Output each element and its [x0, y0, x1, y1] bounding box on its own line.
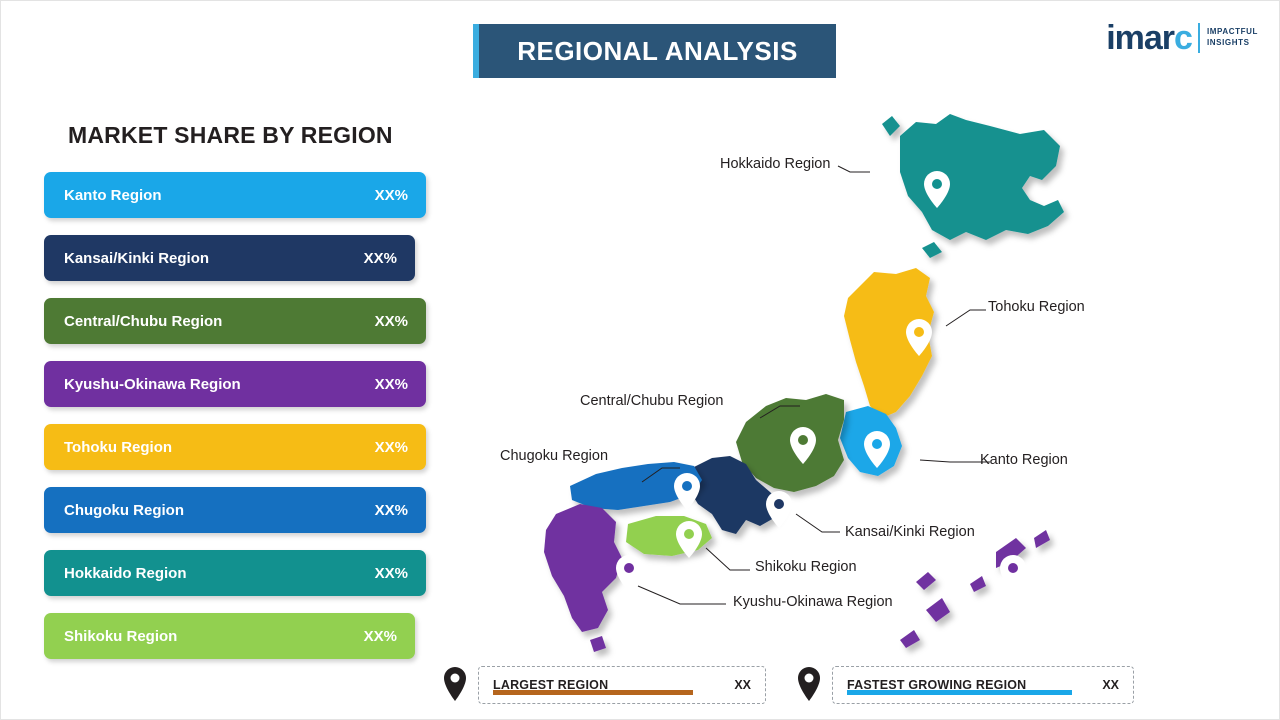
region-share-pill[interactable]: Kansai/Kinki RegionXX% — [44, 235, 415, 281]
region-share-label: Chugoku Region — [64, 502, 184, 519]
region-share-label: Hokkaido Region — [64, 565, 187, 582]
region-share-value: XX% — [375, 187, 408, 204]
map-label-chugoku: Chugoku Region — [500, 448, 608, 464]
region-share-row: Tohoku RegionXX% — [44, 424, 436, 470]
map-label-tohoku: Tohoku Region — [988, 299, 1085, 315]
map-region-hokkaido[interactable] — [882, 114, 1064, 258]
page-title-banner: REGIONAL ANALYSIS — [473, 24, 836, 78]
region-share-value: XX% — [375, 439, 408, 456]
largest-region-value: XX — [734, 678, 751, 692]
fastest-region-label: FASTEST GROWING REGION — [833, 678, 1026, 692]
region-share-value: XX% — [375, 313, 408, 330]
fastest-region-pin-icon — [795, 665, 823, 703]
region-share-pill[interactable]: Shikoku RegionXX% — [44, 613, 415, 659]
region-share-label: Kyushu-Okinawa Region — [64, 376, 241, 393]
region-share-legend: Kanto RegionXX%Kansai/Kinki RegionXX%Cen… — [44, 172, 436, 676]
region-share-pill[interactable]: Hokkaido RegionXX% — [44, 550, 426, 596]
region-share-value: XX% — [375, 502, 408, 519]
largest-region-pin-icon — [441, 665, 469, 703]
logo-tagline-line2: INSIGHTS — [1207, 38, 1258, 49]
japan-map: Hokkaido Region Tohoku Region Central/Ch… — [430, 100, 1270, 660]
imarc-logo: imarc IMPACTFUL INSIGHTS — [1106, 18, 1258, 58]
region-share-value: XX% — [375, 565, 408, 582]
logo-tagline: IMPACTFUL INSIGHTS — [1207, 27, 1258, 49]
region-share-pill[interactable]: Kanto RegionXX% — [44, 172, 426, 218]
largest-region-badge[interactable]: LARGEST REGION XX — [478, 666, 766, 704]
logo-wordmark: imarc — [1106, 21, 1192, 55]
region-share-label: Central/Chubu Region — [64, 313, 222, 330]
page-title: REGIONAL ANALYSIS — [517, 36, 798, 67]
region-share-pill[interactable]: Kyushu-Okinawa RegionXX% — [44, 361, 426, 407]
region-share-label: Tohoku Region — [64, 439, 172, 456]
map-label-kansai-kinki: Kansai/Kinki Region — [845, 524, 975, 540]
logo-word-part1: imar — [1106, 19, 1174, 57]
region-share-value: XX% — [364, 250, 397, 267]
map-label-hokkaido: Hokkaido Region — [720, 156, 830, 172]
fastest-region-value: XX — [1102, 678, 1119, 692]
region-share-label: Shikoku Region — [64, 628, 177, 645]
region-share-value: XX% — [364, 628, 397, 645]
market-share-heading: MARKET SHARE BY REGION — [68, 122, 393, 149]
region-share-row: Chugoku RegionXX% — [44, 487, 436, 533]
region-share-row: Central/Chubu RegionXX% — [44, 298, 436, 344]
largest-region-label: LARGEST REGION — [479, 678, 608, 692]
map-label-kanto: Kanto Region — [980, 452, 1068, 468]
region-share-row: Kanto RegionXX% — [44, 172, 436, 218]
region-share-label: Kanto Region — [64, 187, 162, 204]
map-label-kyushu-okinawa: Kyushu-Okinawa Region — [733, 594, 893, 610]
region-share-pill[interactable]: Chugoku RegionXX% — [44, 487, 426, 533]
region-share-value: XX% — [375, 376, 408, 393]
region-share-label: Kansai/Kinki Region — [64, 250, 209, 267]
map-label-shikoku: Shikoku Region — [755, 559, 857, 575]
fastest-region-badge[interactable]: FASTEST GROWING REGION XX — [832, 666, 1134, 704]
region-share-pill[interactable]: Tohoku RegionXX% — [44, 424, 426, 470]
region-share-row: Shikoku RegionXX% — [44, 613, 436, 659]
logo-tagline-line1: IMPACTFUL — [1207, 27, 1258, 38]
map-label-central-chubu: Central/Chubu Region — [580, 393, 723, 409]
logo-word-part2: c — [1174, 19, 1192, 57]
region-share-row: Kansai/Kinki RegionXX% — [44, 235, 436, 281]
region-share-row: Hokkaido RegionXX% — [44, 550, 436, 596]
region-share-row: Kyushu-Okinawa RegionXX% — [44, 361, 436, 407]
logo-divider — [1198, 23, 1200, 53]
region-share-pill[interactable]: Central/Chubu RegionXX% — [44, 298, 426, 344]
